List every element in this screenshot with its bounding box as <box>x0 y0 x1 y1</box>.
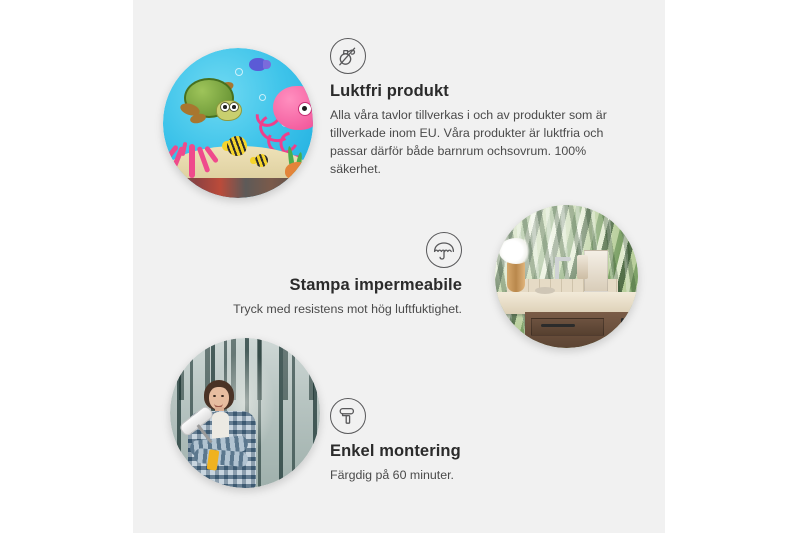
feature-block-odourless: Luktfri produkt Alla våra tavlor tillver… <box>330 38 630 179</box>
no-odour-spray-bottle-icon <box>330 38 366 74</box>
feature-description: Alla våra tavlor tillverkas i och av pro… <box>330 106 630 179</box>
paint-roller-icon <box>330 398 366 434</box>
soap-dish <box>535 287 555 294</box>
feature-block-easy-install: Enkel montering Färgdig på 60 minuter. <box>330 398 590 484</box>
feature-title: Luktfri produkt <box>330 81 630 102</box>
coral-illustration <box>169 134 221 178</box>
feature-description: Färgdig på 60 minuter. <box>330 466 590 484</box>
feature-title: Enkel montering <box>330 441 590 462</box>
feature-title: Stampa impermeabile <box>200 275 462 296</box>
blue-fish-icon <box>249 58 271 71</box>
bubble-icon <box>235 68 243 76</box>
feature-block-waterproof: Stampa impermeabile Tryck med resistens … <box>200 232 462 318</box>
product-feature-infographic: Luktfri produkt Alla våra tavlor tillver… <box>0 0 800 533</box>
underwater-cartoon-wallpaper-thumbnail <box>163 48 313 198</box>
room-floor-strip <box>163 178 313 198</box>
yellow-fish-icon <box>223 136 249 156</box>
soap-bottle <box>577 255 588 279</box>
bathroom-tropical-wallpaper-thumbnail <box>495 205 638 348</box>
wooden-vanity-cabinet <box>525 312 638 348</box>
yellow-fish-icon <box>251 154 269 167</box>
woman-painter-illustration <box>186 376 260 488</box>
turtle-illustration <box>180 78 242 124</box>
faucet <box>555 257 559 279</box>
painter-forest-wallpaper-thumbnail <box>170 338 320 488</box>
countertop <box>495 292 638 314</box>
feature-description: Tryck med resistens mot hög luftfuktighe… <box>200 300 462 318</box>
white-flowers <box>499 238 533 264</box>
umbrella-icon <box>426 232 462 268</box>
flower-vase <box>507 260 525 292</box>
